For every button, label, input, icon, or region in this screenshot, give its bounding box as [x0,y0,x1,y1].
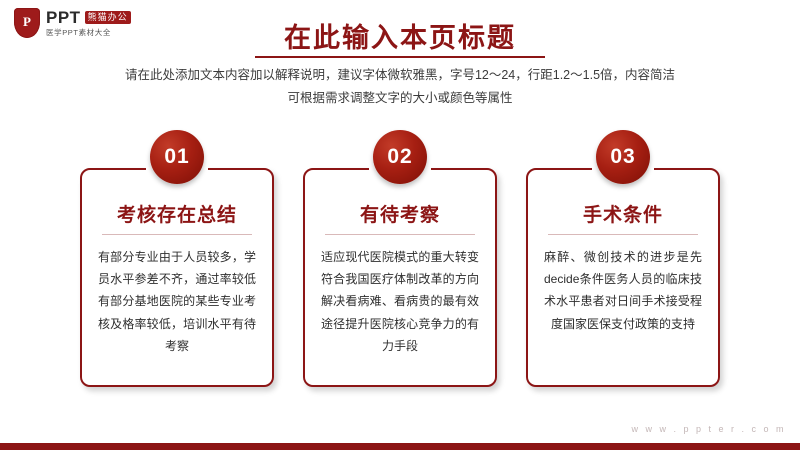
bottom-accent-bar [0,443,800,450]
card-title: 考核存在总结 [82,200,272,227]
card-item[interactable]: 03 手术条件 麻醉、微创技术的进步是先decide条件医务人员的临床技术水平患… [526,168,720,387]
card-body: 有部分专业由于人员较多，学员水平参差不齐，通过率较低有部分基地医院的某些专业考核… [98,246,256,357]
card-divider [102,234,252,235]
site-watermark: w w w . p p t e r . c o m [631,424,786,434]
title-underline [255,56,545,58]
page-title: 在此输入本页标题 [0,16,800,55]
card-body: 适应现代医院模式的重大转变符合我国医疗体制改革的方向解决看病难、看病贵的最有效途… [321,246,479,357]
card-number-badge: 03 [596,130,650,184]
subtitle-line-2: 可根据需求调整文字的大小或颜色等属性 [70,87,730,110]
card-divider [325,234,475,235]
card-number-badge: 02 [373,130,427,184]
card-item[interactable]: 01 考核存在总结 有部分专业由于人员较多，学员水平参差不齐，通过率较低有部分基… [80,168,274,387]
card-number-badge: 01 [150,130,204,184]
subtitle-line-1: 请在此处添加文本内容加以解释说明，建议字体微软雅黑，字号12～24，行距1.2～… [70,64,730,87]
page-subtitle: 请在此处添加文本内容加以解释说明，建议字体微软雅黑，字号12～24，行距1.2～… [70,64,730,109]
card-divider [548,234,698,235]
card-body: 麻醉、微创技术的进步是先decide条件医务人员的临床技术水平患者对日间手术接受… [544,246,702,335]
card-item[interactable]: 02 有待考察 适应现代医院模式的重大转变符合我国医疗体制改革的方向解决看病难、… [303,168,497,387]
card-title: 手术条件 [528,200,718,227]
card-list: 01 考核存在总结 有部分专业由于人员较多，学员水平参差不齐，通过率较低有部分基… [80,168,720,387]
card-title: 有待考察 [305,200,495,227]
